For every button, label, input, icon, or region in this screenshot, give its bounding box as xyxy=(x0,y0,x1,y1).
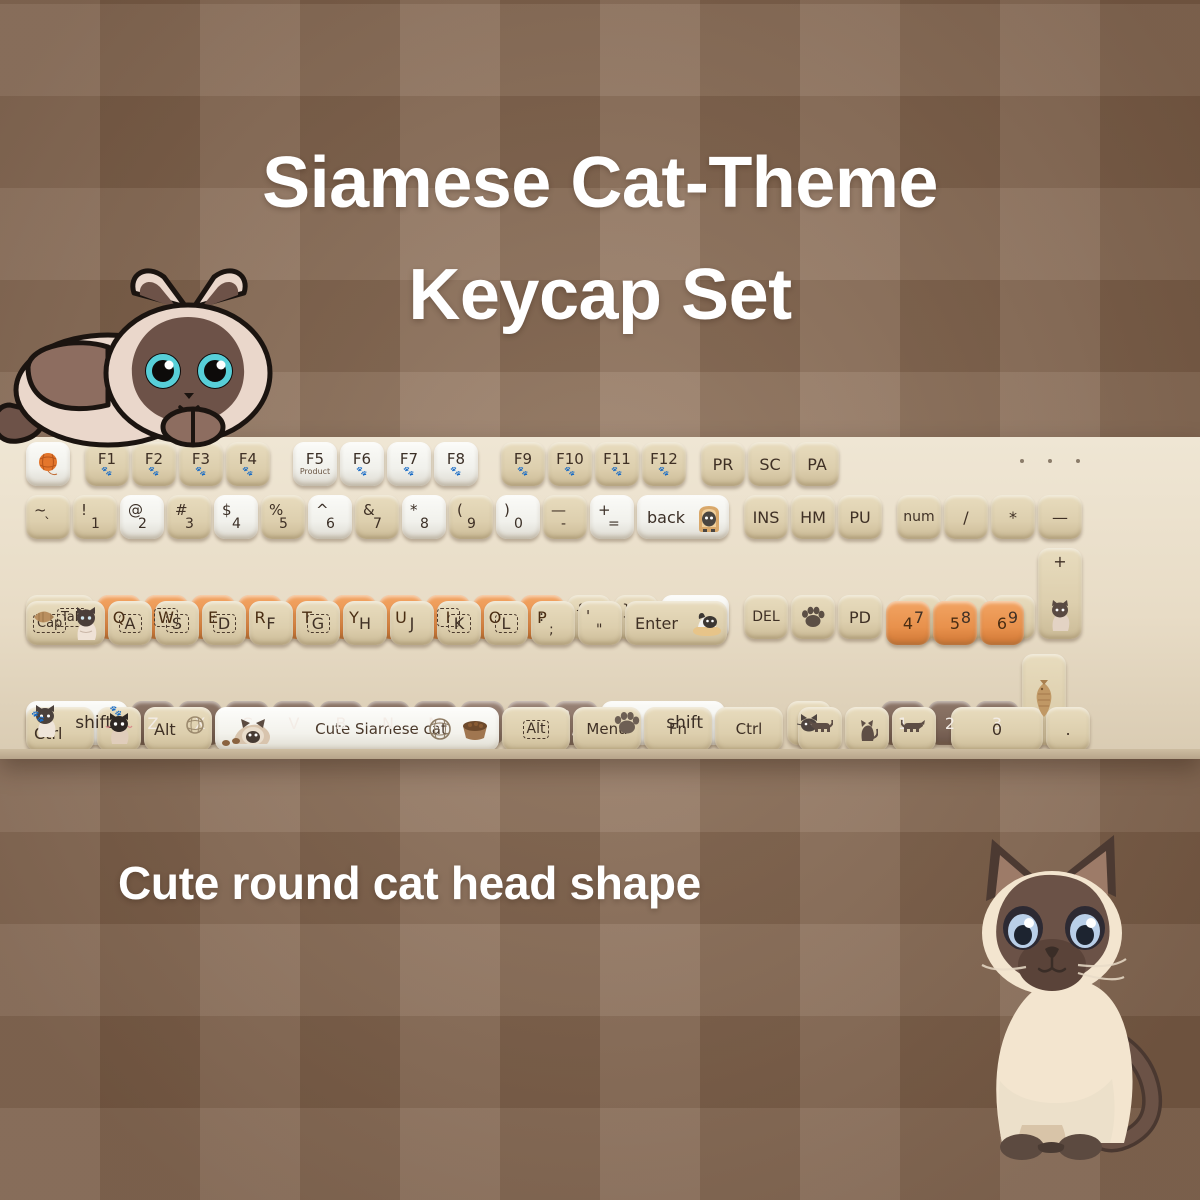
key-insert[interactable]: INS xyxy=(744,495,788,539)
key-alt-right[interactable]: Alt xyxy=(502,707,570,751)
key-label: F3 xyxy=(192,452,210,467)
key-f7[interactable]: F7🐾 xyxy=(387,442,431,486)
key-arrow-right[interactable] xyxy=(892,707,936,751)
feature-caption: Cute round cat head shape xyxy=(118,856,701,910)
key-m[interactable]: M xyxy=(413,701,457,745)
keyboard-row-number: ~` !1 @2 #3 $4 %5 ^6 &7 *8 (9 )0 —- += b… xyxy=(26,495,1085,539)
key-h[interactable]: H xyxy=(343,601,387,645)
key-j[interactable]: J xyxy=(390,601,434,645)
key-numpad-minus[interactable]: — xyxy=(1038,495,1082,539)
paw-print-icon: 🐾 xyxy=(403,468,414,477)
key-backspace[interactable]: back xyxy=(637,495,729,539)
key-label: F6 xyxy=(353,452,371,467)
cat-walking-right-icon xyxy=(892,707,936,751)
key-f10[interactable]: F10🐾 xyxy=(548,442,592,486)
key-label: F2 xyxy=(145,452,163,467)
key-d[interactable]: D xyxy=(202,601,246,645)
paw-print-icon: 🐾 xyxy=(611,468,622,477)
key-2[interactable]: @2 xyxy=(120,495,164,539)
key-home[interactable]: HM xyxy=(791,495,835,539)
keyboard[interactable]: F1🐾 F2🐾 F3🐾 F4🐾 F5Product F6🐾 F7🐾 F8🐾 F9… xyxy=(0,437,1200,759)
key-sublabel: Product xyxy=(300,468,330,476)
key-backtick[interactable]: ~` xyxy=(26,495,70,539)
key-v[interactable]: V xyxy=(272,701,316,745)
key-numpad-4[interactable]: 4 xyxy=(886,601,930,645)
key-f4[interactable]: F4🐾 xyxy=(226,442,270,486)
key-end[interactable] xyxy=(791,595,835,639)
key-ctrl-left[interactable]: 🐾 Ctrl xyxy=(26,707,94,751)
key-alt-left[interactable]: Alt xyxy=(144,707,212,751)
key-numlock[interactable]: num xyxy=(897,495,941,539)
key-3[interactable]: #3 xyxy=(167,495,211,539)
key-menu[interactable]: Menu xyxy=(573,707,641,751)
key-ctrl-right[interactable]: Ctrl xyxy=(715,707,783,751)
key-b[interactable]: B xyxy=(319,701,363,745)
key-label: F11 xyxy=(603,452,631,467)
paw-print-icon: 🐾 xyxy=(195,468,206,477)
key-5[interactable]: %5 xyxy=(261,495,305,539)
key-f2[interactable]: F2🐾 xyxy=(132,442,176,486)
key-arrow-down[interactable] xyxy=(845,707,889,751)
key-arrow-left[interactable] xyxy=(798,707,842,751)
keyboard-row-bottom: 🐾 Ctrl Alt Cute Siamese cat xyxy=(26,707,1093,751)
key-1[interactable]: !1 xyxy=(73,495,117,539)
key-escape[interactable] xyxy=(26,442,70,486)
food-bowl-icon xyxy=(459,715,491,741)
paw-print-icon: 🐾 xyxy=(356,468,367,477)
key-minus[interactable]: —- xyxy=(543,495,587,539)
key-numpad-divide[interactable]: / xyxy=(944,495,988,539)
key-numpad-multiply[interactable]: * xyxy=(991,495,1035,539)
key-enter[interactable]: Enter xyxy=(625,601,727,645)
key-9[interactable]: (9 xyxy=(449,495,493,539)
key-numpad-6[interactable]: 6 xyxy=(980,601,1024,645)
key-pagedown[interactable]: PD xyxy=(838,595,882,639)
key-label: F8 xyxy=(447,452,465,467)
key-equals[interactable]: += xyxy=(590,495,634,539)
key-4[interactable]: $4 xyxy=(214,495,258,539)
key-f3[interactable]: F3🐾 xyxy=(179,442,223,486)
paw-print-icon: 🐾 xyxy=(517,468,528,477)
key-f8[interactable]: F8🐾 xyxy=(434,442,478,486)
key-f1[interactable]: F1🐾 xyxy=(85,442,129,486)
key-numpad-5[interactable]: 5 xyxy=(933,601,977,645)
key-delete[interactable]: DEL xyxy=(744,595,788,639)
key-win[interactable] xyxy=(97,707,141,751)
key-capslock[interactable]: Cap xyxy=(26,601,105,645)
key-8[interactable]: *8 xyxy=(402,495,446,539)
key-printscreen[interactable]: PR xyxy=(701,442,745,486)
key-s[interactable]: S xyxy=(155,601,199,645)
paw-print-icon: 🐾 xyxy=(564,468,575,477)
key-f9[interactable]: F9🐾 xyxy=(501,442,545,486)
cat-paw-icon xyxy=(791,595,835,639)
yarn-ball-icon xyxy=(26,442,70,486)
title-line-1: Siamese Cat-Theme xyxy=(262,143,938,223)
key-label: F4 xyxy=(239,452,257,467)
key-scrolllock[interactable]: SC xyxy=(748,442,792,486)
key-label: F12 xyxy=(650,452,678,467)
key-6[interactable]: ^6 xyxy=(308,495,352,539)
key-label: F1 xyxy=(98,452,116,467)
key-label: F9 xyxy=(514,452,532,467)
key-numpad-plus[interactable]: + xyxy=(1038,548,1082,639)
key-quote[interactable]: '" xyxy=(578,601,622,645)
paw-print-icon: 🐾 xyxy=(101,468,112,477)
key-numpad-decimal[interactable]: . xyxy=(1046,707,1090,751)
key-label: F5 xyxy=(306,452,324,467)
key-label: F10 xyxy=(556,452,584,467)
key-f12[interactable]: F12🐾 xyxy=(642,442,686,486)
key-k[interactable]: K xyxy=(437,601,481,645)
led-indicators xyxy=(1020,459,1080,463)
page-title: Siamese Cat-Theme Keycap Set xyxy=(0,128,1200,351)
key-f[interactable]: F xyxy=(249,601,293,645)
key-label: F7 xyxy=(400,452,418,467)
key-c[interactable]: C xyxy=(225,701,269,745)
key-f11[interactable]: F11🐾 xyxy=(595,442,639,486)
cat-sitting-icon xyxy=(845,707,889,751)
key-pageup[interactable]: PU xyxy=(838,495,882,539)
key-g[interactable]: G xyxy=(296,601,340,645)
cat-walking-left-icon xyxy=(798,707,842,751)
title-line-2: Keycap Set xyxy=(0,240,1200,352)
paw-print-icon: 🐾 xyxy=(148,468,159,477)
key-numpad-0[interactable]: 0 xyxy=(951,707,1043,751)
key-n[interactable]: N xyxy=(366,701,410,745)
key-f5[interactable]: F5Product xyxy=(293,442,337,486)
paw-print-icon: 🐾 xyxy=(450,468,461,477)
key-7[interactable]: &7 xyxy=(355,495,399,539)
key-pause[interactable]: PA xyxy=(795,442,839,486)
paw-print-icon: 🐾 xyxy=(242,468,253,477)
paw-print-icon: 🐾 xyxy=(658,468,669,477)
key-0[interactable]: )0 xyxy=(496,495,540,539)
keyboard-row-function: F1🐾 F2🐾 F3🐾 F4🐾 F5Product F6🐾 F7🐾 F8🐾 F9… xyxy=(26,442,842,486)
key-fn[interactable]: Fn xyxy=(644,707,712,751)
key-f6[interactable]: F6🐾 xyxy=(340,442,384,486)
siamese-cat-sitting-icon xyxy=(97,707,141,751)
key-a[interactable]: A xyxy=(108,601,152,645)
key-l[interactable]: L xyxy=(484,601,528,645)
